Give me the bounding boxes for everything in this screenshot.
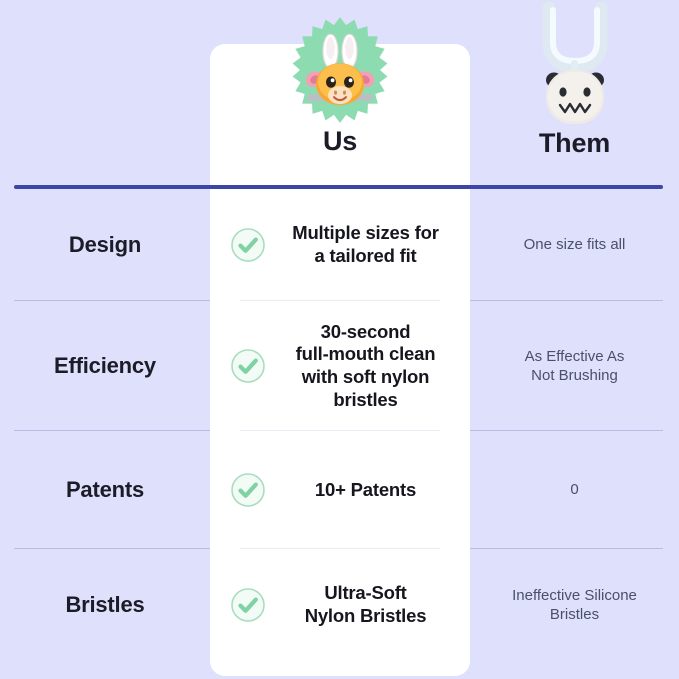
table-row: Efficiency 30-second full-mouth clean wi… — [0, 301, 679, 431]
header-column-us: Us — [210, 6, 470, 157]
comparison-header: Us Them — [0, 0, 679, 186]
u-shaped-toothbrush-icon — [529, 2, 621, 126]
table-row: Patents 10+ Patents 0 — [0, 431, 679, 549]
header-label-us: Us — [210, 126, 470, 157]
us-value: Ultra-Soft Nylon Bristles — [277, 582, 454, 627]
us-cell: 10+ Patents — [210, 472, 470, 508]
us-value-line: full-mouth clean — [277, 343, 454, 366]
us-value-line: a tailored fit — [277, 245, 454, 268]
check-circle-icon — [230, 587, 266, 623]
them-value-line: Bristles — [484, 605, 665, 625]
them-cell: 0 — [470, 480, 679, 500]
us-cell: Ultra-Soft Nylon Bristles — [210, 582, 470, 627]
us-product-art — [210, 6, 470, 124]
us-value-line: with soft nylon — [277, 366, 454, 389]
them-cell: One size fits all — [470, 235, 679, 255]
feature-label: Efficiency — [0, 353, 210, 379]
feature-label: Patents — [0, 477, 210, 503]
table-row: Bristles Ultra-Soft Nylon Bristles Ineff… — [0, 549, 679, 661]
check-circle-icon — [230, 472, 266, 508]
us-cell: Multiple sizes for a tailored fit — [210, 222, 470, 267]
comparison-rows: Design Multiple sizes for a tailored fit… — [0, 189, 679, 661]
us-value-line: Ultra-Soft — [277, 582, 454, 605]
us-value-line: Nylon Bristles — [277, 605, 454, 628]
us-value-line: bristles — [277, 389, 454, 412]
us-value-line: 10+ Patents — [277, 479, 454, 502]
us-value-line: 30-second — [277, 321, 454, 344]
giraffe-character-icon — [303, 34, 377, 112]
feature-label: Bristles — [0, 592, 210, 618]
check-circle-icon — [230, 227, 266, 263]
them-cell: As Effective As Not Brushing — [470, 347, 679, 386]
feature-label: Design — [0, 232, 210, 258]
us-value: Multiple sizes for a tailored fit — [277, 222, 454, 267]
us-value-line: Multiple sizes for — [277, 222, 454, 245]
them-value-line: 0 — [484, 480, 665, 500]
them-value-line: One size fits all — [484, 235, 665, 255]
table-row: Design Multiple sizes for a tailored fit… — [0, 189, 679, 301]
check-circle-icon — [230, 348, 266, 384]
us-cell: 30-second full-mouth clean with soft nyl… — [210, 321, 470, 411]
them-value-line: Not Brushing — [484, 366, 665, 386]
giraffe-badge — [286, 16, 394, 124]
them-value-line: As Effective As — [484, 347, 665, 367]
header-divider-rule — [14, 185, 663, 189]
them-product-art — [470, 0, 679, 126]
them-value-line: Ineffective Silicone — [484, 586, 665, 606]
header-label-them: Them — [470, 128, 679, 159]
us-value: 10+ Patents — [277, 479, 454, 502]
them-cell: Ineffective Silicone Bristles — [470, 586, 679, 625]
us-value: 30-second full-mouth clean with soft nyl… — [277, 321, 454, 411]
header-column-them: Them — [470, 0, 679, 159]
